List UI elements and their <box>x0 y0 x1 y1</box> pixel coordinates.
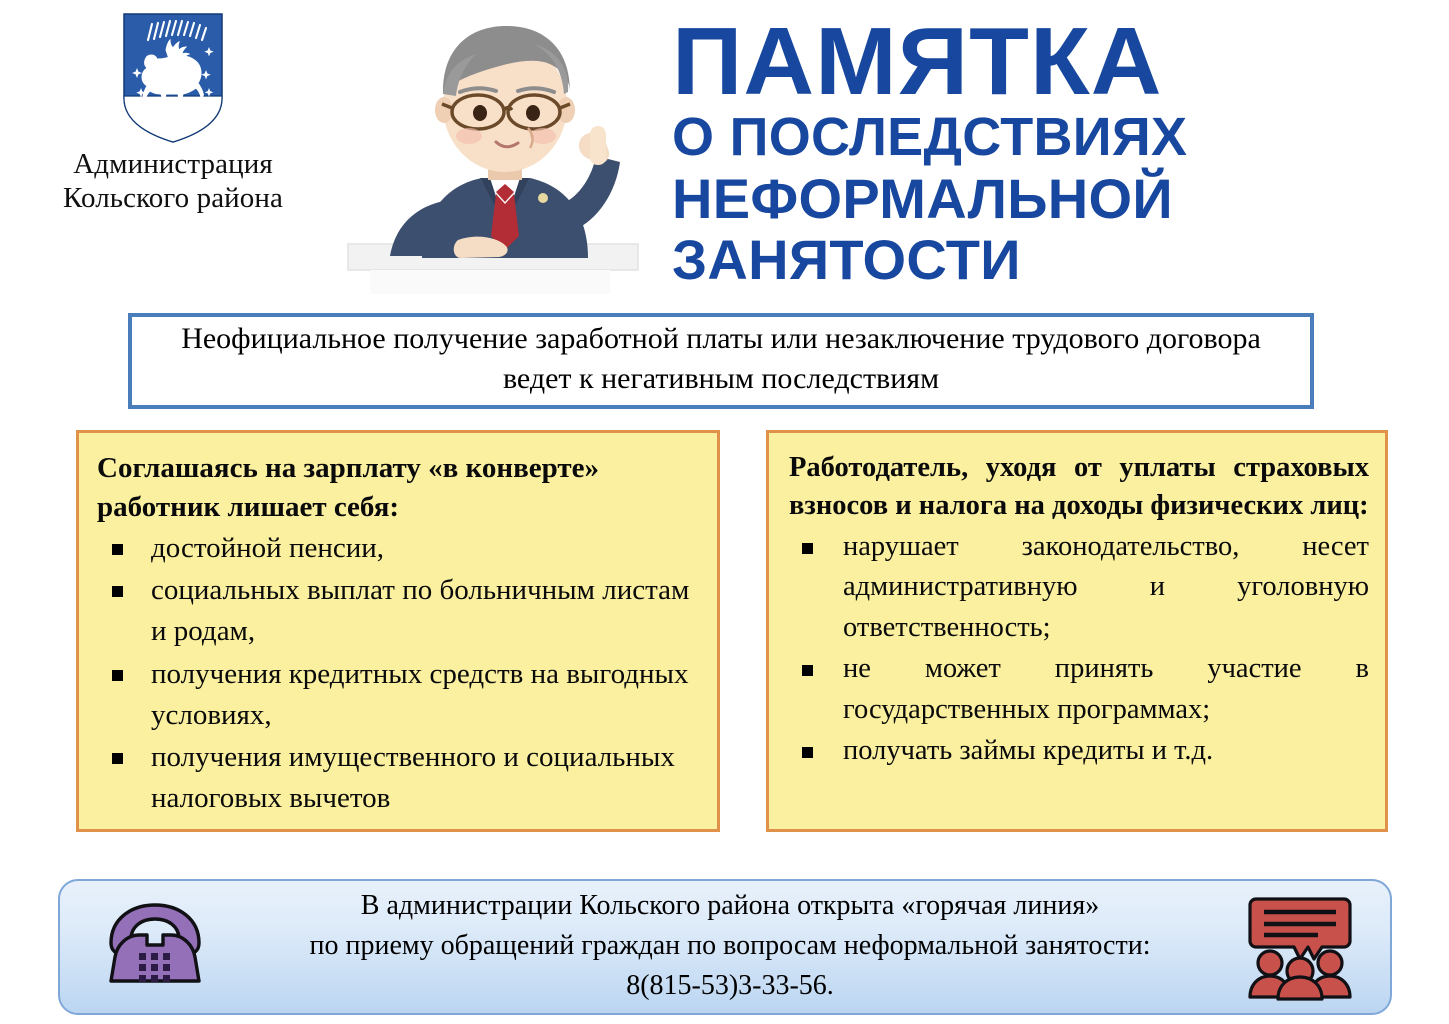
telephone-icon <box>101 897 209 997</box>
poster-header: Администрация Кольского района <box>0 0 1449 300</box>
list-item: получения имущественного и социальных на… <box>95 737 703 819</box>
hotline-line-2: по приему обращений граждан по вопросам … <box>250 926 1210 966</box>
notice-line-1: Неофициальное получение заработной платы… <box>181 322 1139 355</box>
title-line-2: О ПОСЛЕДСТВИЯХ <box>672 108 1442 167</box>
square-bullet-icon <box>802 665 813 676</box>
list-item: не может принять участие в государственн… <box>785 649 1371 730</box>
organization-block: Администрация Кольского района <box>18 12 328 216</box>
list-item-text: социальных выплат по больничным листам и… <box>151 574 689 647</box>
square-bullet-icon <box>802 747 813 758</box>
list-item-text: нарушает законодательство, несет админис… <box>843 531 1369 643</box>
consequences-panels: Соглашаясь на зарплату «в конверте» рабо… <box>0 430 1449 850</box>
title-line-4: ЗАНЯТОСТИ <box>672 229 1442 291</box>
employee-panel-heading: Соглашаясь на зарплату «в конверте» рабо… <box>97 449 703 526</box>
poster-root: Администрация Кольского района <box>0 0 1449 1024</box>
employer-panel-heading: Работодатель, уходя от уплаты страховых … <box>789 449 1369 525</box>
hotline-line-1: В администрации Кольского района открыта… <box>250 886 1210 926</box>
organization-name: Администрация Кольского района <box>18 148 328 216</box>
notice-text: Неофициальное получение заработной платы… <box>148 319 1294 398</box>
employer-consequences-list: нарушает законодательство, несет админис… <box>785 527 1371 772</box>
employee-consequences-panel: Соглашаясь на зарплату «в конверте» рабо… <box>76 430 720 832</box>
notice-banner: Неофициальное получение заработной платы… <box>128 313 1314 409</box>
square-bullet-icon <box>112 586 123 597</box>
organization-name-line1: Администрация <box>18 148 328 182</box>
speech-bubble-people-icon <box>1244 893 1356 1001</box>
title-line-1: ПАМЯТКА <box>672 16 1449 108</box>
square-bullet-icon <box>112 670 123 681</box>
kola-district-coat-of-arms-icon <box>121 12 225 144</box>
footer-left-icon-slot <box>60 897 250 997</box>
list-item: социальных выплат по больничным листам и… <box>95 570 703 652</box>
list-item: получения кредитных средств на выгодных … <box>95 654 703 736</box>
employee-consequences-list: достойной пенсии, социальных выплат по б… <box>95 528 703 819</box>
hotline-text: В администрации Кольского района открыта… <box>250 886 1210 1007</box>
list-item-text: достойной пенсии, <box>151 532 384 564</box>
employer-consequences-panel: Работодатель, уходя от уплаты страховых … <box>766 430 1388 832</box>
pointing-businessman-illustration <box>330 8 680 296</box>
list-item: достойной пенсии, <box>95 528 703 569</box>
poster-title: ПАМЯТКА О ПОСЛЕДСТВИЯХ НЕФОРМАЛЬНОЙ ЗАНЯ… <box>672 16 1442 291</box>
list-item-text: не может принять участие в государственн… <box>843 653 1369 724</box>
list-item-text: получения кредитных средств на выгодных … <box>151 658 689 731</box>
list-item: получать займы кредиты и т.д. <box>785 731 1371 771</box>
title-line-3: НЕФОРМАЛЬНОЙ <box>672 168 1442 230</box>
square-bullet-icon <box>802 543 813 554</box>
hotline-phone-number: 8(815-53)3-33-56. <box>250 966 1210 1006</box>
square-bullet-icon <box>112 753 123 764</box>
square-bullet-icon <box>112 544 123 555</box>
organization-name-line2: Кольского района <box>18 182 328 216</box>
list-item-text: получения имущественного и социальных на… <box>151 741 675 814</box>
hotline-footer: В администрации Кольского района открыта… <box>58 879 1392 1015</box>
list-item: нарушает законодательство, несет админис… <box>785 527 1371 648</box>
footer-right-icon-slot <box>1210 893 1390 1001</box>
list-item-text: получать займы кредиты и т.д. <box>843 735 1213 766</box>
